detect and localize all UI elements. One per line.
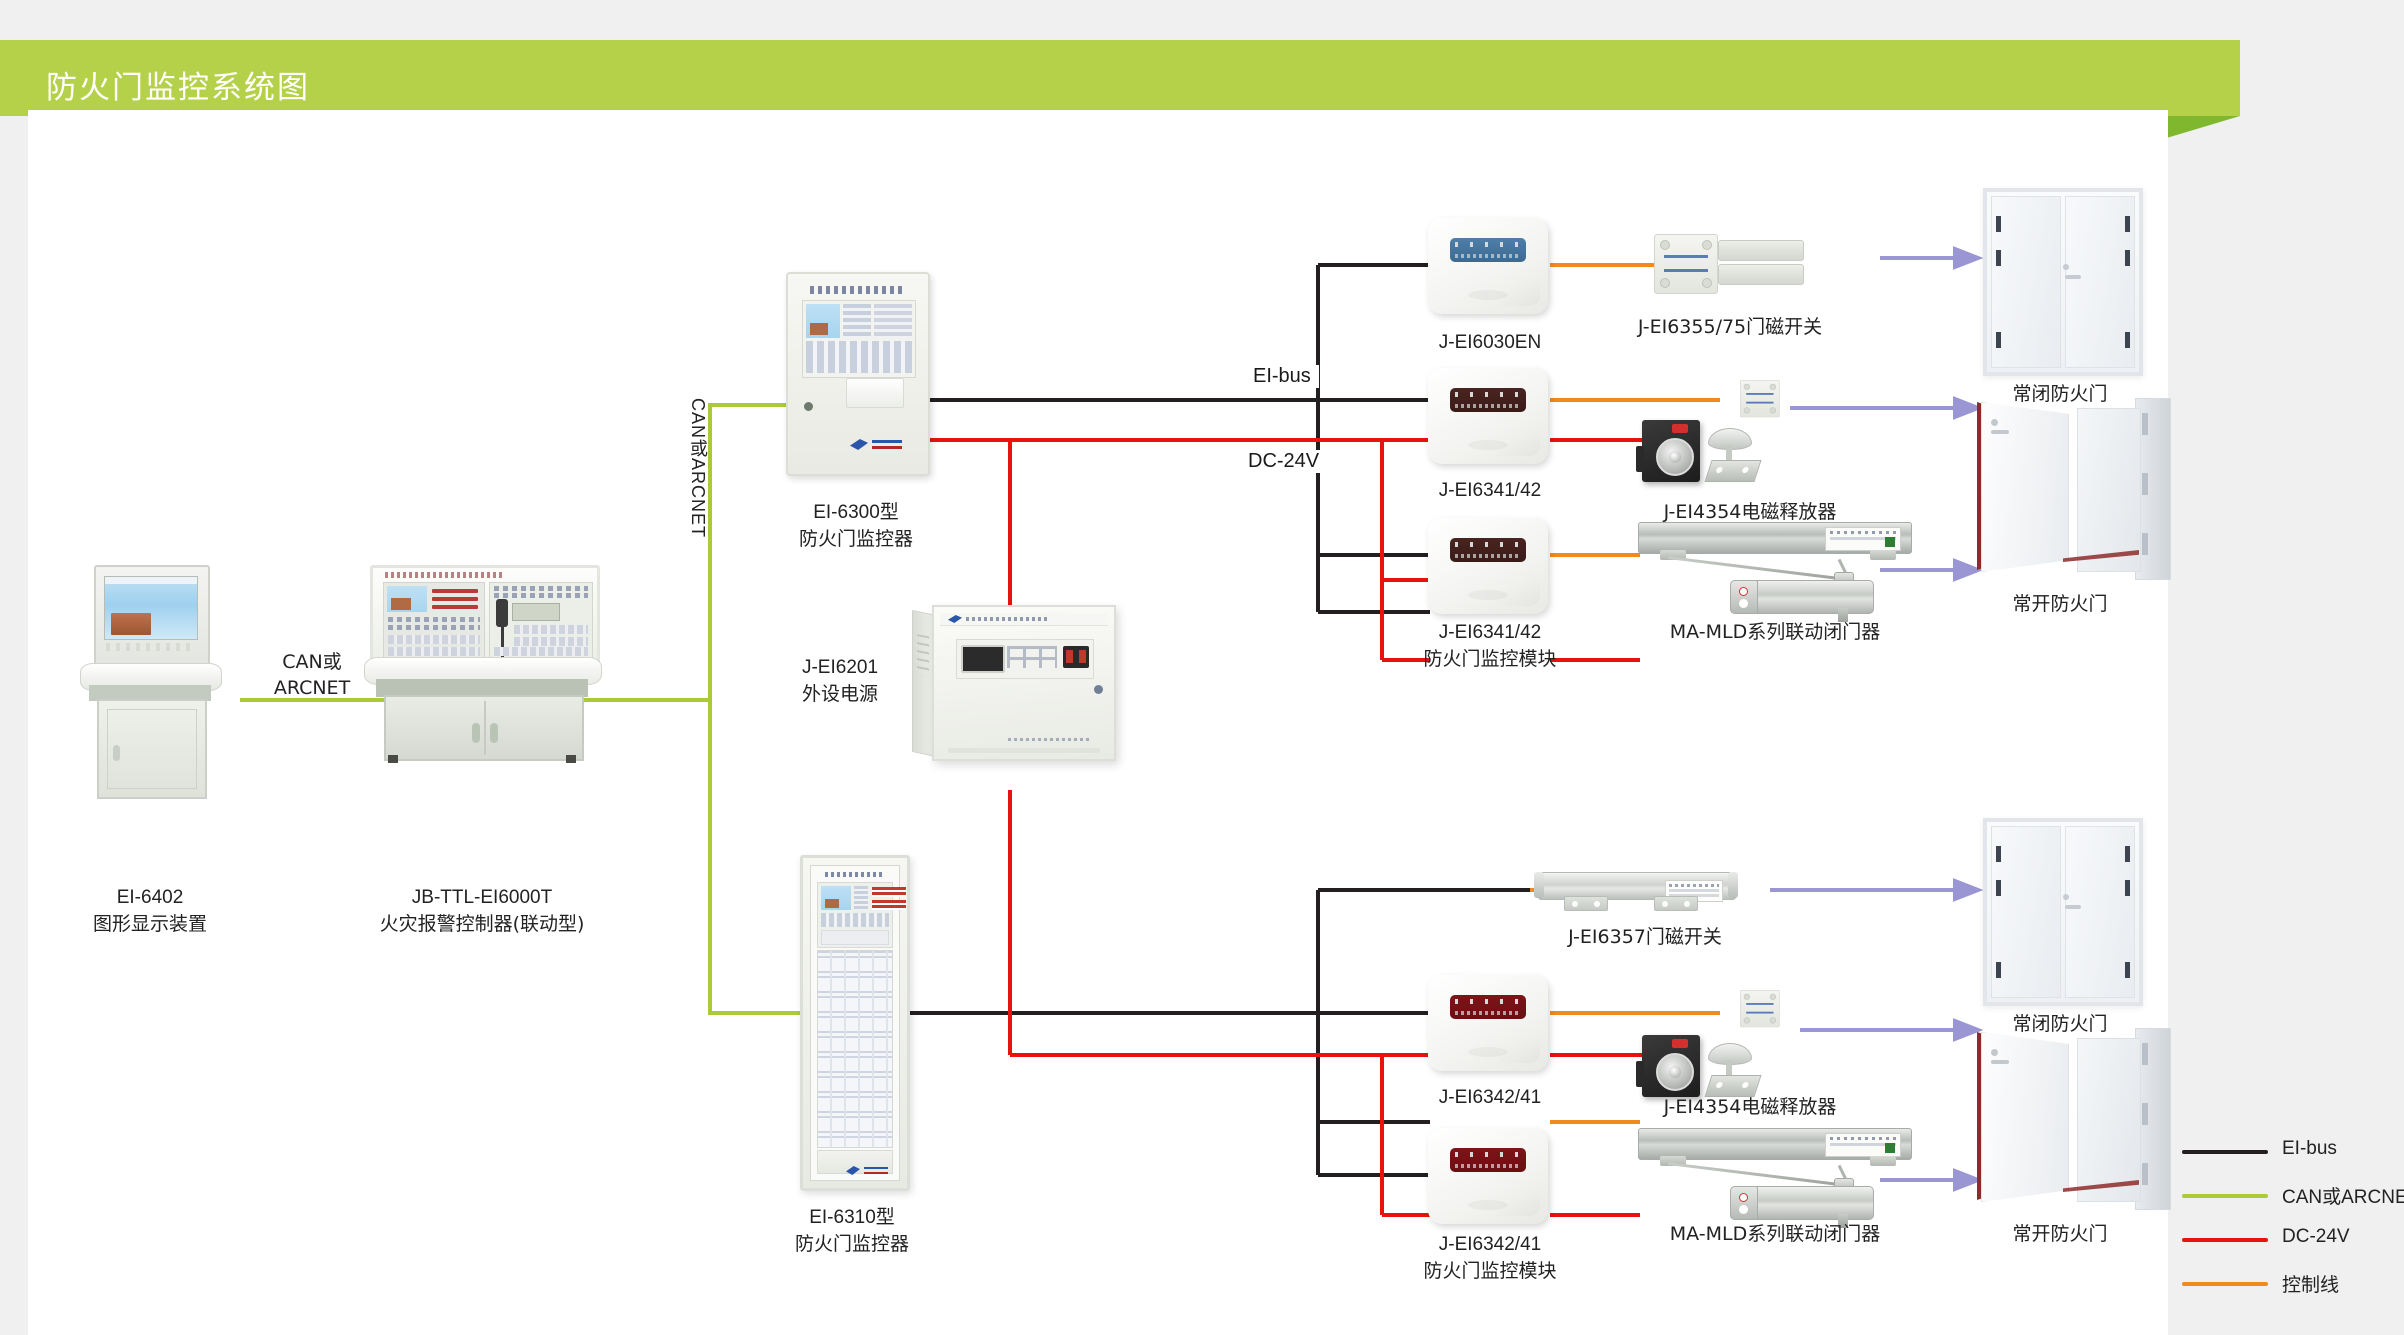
hinge-icon	[1996, 962, 2001, 978]
hinge-icon	[1996, 216, 2001, 232]
label-module-6342-41-b-name: 防火门监控模块	[1390, 1259, 1590, 1285]
hinge-icon	[2125, 880, 2130, 896]
module-label-plate	[1450, 1148, 1526, 1172]
legend-swatch-control	[2182, 1282, 2268, 1286]
label-closer-top: MA-MLD系列联动闭门器	[1630, 620, 1920, 646]
device-power-supply-j-ei6201[interactable]	[912, 605, 1112, 765]
ei6310-indicator-column	[854, 886, 868, 910]
device-door-closed-bottom	[1983, 818, 2143, 1006]
closer-arm	[1668, 1162, 1843, 1186]
module-label-text	[1455, 404, 1521, 408]
wire-label-ei-bus: EI-bus	[1245, 365, 1319, 388]
door-switch-label	[1746, 1012, 1773, 1014]
wire-label-dc24v: DC-24V	[1240, 450, 1327, 473]
label-ei6300-name: 防火门监控器	[766, 527, 946, 553]
door-switch-label	[1746, 402, 1773, 404]
label-ei6300-model: EI-6300型	[766, 500, 946, 526]
label-module-6341-42-b-model: J-EI6341/42	[1400, 620, 1580, 646]
console-left-section	[383, 582, 485, 660]
device-door-switch-plate-bottom[interactable]	[1740, 990, 1797, 1026]
device-door-open-top	[1975, 398, 2171, 578]
psu-display	[961, 645, 1005, 673]
psu-brand-icon	[948, 615, 962, 623]
closer-arm	[1668, 556, 1843, 580]
closer-indicator-icon	[1885, 537, 1895, 547]
armature-base	[1704, 460, 1761, 482]
psu-title-bar	[940, 613, 1108, 626]
ei6300-indicator-grid	[843, 304, 871, 338]
armature-stem	[1726, 1060, 1732, 1076]
wire-label-can-arcnet-left: CAN或 ARCNET	[252, 650, 372, 701]
armature-base	[1704, 1075, 1761, 1097]
device-monitor-ei6310[interactable]	[800, 855, 910, 1191]
gdu-cabinet	[97, 699, 207, 799]
closer-bracket	[1870, 1156, 1896, 1166]
module-label-text	[1455, 1011, 1521, 1015]
console-cabinet	[384, 695, 584, 761]
door-leaf-fixed	[2077, 1038, 2141, 1202]
label-console-name: 火灾报警控制器(联动型)	[372, 912, 592, 938]
door-switch-label	[1664, 269, 1708, 272]
closer-tag-text	[1830, 531, 1896, 534]
legend-label: EI-bus	[2282, 1138, 2337, 1160]
hinge-icon	[2125, 250, 2130, 266]
module-label-text	[1455, 254, 1521, 258]
hinge-icon	[1996, 332, 2001, 348]
screw-icon	[1702, 240, 1712, 250]
hinge-icon	[2125, 216, 2130, 232]
gdu-button-row	[106, 643, 196, 651]
label-console-model: JB-TTL-EI6000T	[382, 885, 582, 911]
ei6310-module-columns	[818, 951, 892, 1147]
door-leaf-left	[1991, 196, 2061, 368]
door-handle-icon	[2065, 275, 2081, 279]
device-door-open-bottom	[1975, 1028, 2171, 1208]
header-banner	[0, 40, 2240, 116]
ei6310-module-bank	[817, 950, 893, 1148]
ei6300-zone-grid	[806, 341, 912, 373]
gdu-screen	[104, 576, 198, 640]
device-graphic-display-ei6402[interactable]	[80, 565, 220, 795]
ei6310-title-strip	[825, 872, 885, 877]
label-ei6310-model: EI-6310型	[762, 1205, 942, 1231]
legend-label: CAN或ARCNET	[2282, 1182, 2404, 1209]
ei6310-key-row	[821, 913, 889, 927]
gdu-monitor	[94, 565, 210, 669]
door-switch-bar	[1718, 264, 1804, 285]
console-foot	[566, 755, 576, 763]
closer-tag-text	[1830, 1137, 1896, 1140]
ei6310-wide-slot	[821, 930, 889, 945]
ei6300-screen	[806, 304, 840, 338]
legend-label: DC-24V	[2282, 1226, 2350, 1248]
console-alarm-bar	[432, 605, 478, 609]
label-door-open-bottom: 常开防火门	[1975, 1222, 2145, 1248]
console-key-row	[494, 647, 588, 656]
ei6310-alarm-strip	[872, 887, 906, 897]
legend-swatch-ei-bus	[2182, 1150, 2268, 1154]
door-leaf-open	[1981, 402, 2069, 572]
module-logo-watermark	[1468, 1047, 1508, 1057]
psu-front-panel	[932, 605, 1116, 761]
ei6310-faceplate	[817, 882, 893, 948]
label-door-switch-6355: J-EI6355/75门磁开关	[1610, 315, 1850, 341]
console-foot	[388, 755, 398, 763]
ei6300-printer-slot	[846, 378, 904, 408]
screw-icon	[1660, 278, 1670, 288]
screw-icon	[1770, 384, 1776, 390]
module-led-dots	[1455, 542, 1521, 547]
hinge-icon	[2125, 332, 2130, 348]
device-monitor-ei6300[interactable]	[786, 272, 930, 476]
label-module-6342-41-a: J-EI6342/41	[1400, 1085, 1580, 1111]
module-label-text	[1455, 1164, 1521, 1168]
device-door-switch-j-ei6357[interactable]	[1538, 868, 1734, 914]
releaser-magnet-icon	[1656, 1053, 1694, 1091]
ei6300-lock[interactable]	[804, 402, 813, 411]
legend-item: CAN或ARCNET	[2182, 1174, 2382, 1218]
closer-bracket	[1870, 550, 1896, 560]
label-module-6342-41-b-model: J-EI6342/41	[1400, 1232, 1580, 1258]
device-door-switch-j-ei6355-75[interactable]	[1654, 234, 1746, 292]
device-module-j-ei6341-42-b[interactable]	[1428, 518, 1548, 614]
module-label-text	[1455, 554, 1521, 558]
console-led-row	[388, 625, 480, 630]
screw-icon	[1770, 407, 1776, 413]
device-door-closed-top	[1983, 188, 2143, 376]
bar-switch-bracket	[1564, 896, 1608, 911]
hinge-icon	[1996, 880, 2001, 896]
device-module-j-ei6342-41-a[interactable]	[1428, 975, 1548, 1071]
legend-label: 控制线	[2282, 1270, 2339, 1297]
door-switch-plate	[1740, 380, 1780, 417]
module-logo-watermark	[1468, 590, 1508, 600]
door-handle-icon	[1991, 1060, 2009, 1064]
module-logo-watermark	[1468, 440, 1508, 450]
ei6300-brand-logo	[850, 438, 902, 452]
label-closer-bottom: MA-MLD系列联动闭门器	[1630, 1222, 1920, 1248]
screw-icon	[1660, 240, 1670, 250]
bar-switch-cap	[1534, 872, 1544, 898]
door-leaf-fixed	[2077, 408, 2141, 572]
releaser-button[interactable]	[1672, 1039, 1688, 1048]
closer-control-tag	[1825, 527, 1901, 551]
device-door-closer-ma-mld-top[interactable]	[1638, 522, 1910, 626]
door-handle-icon	[2065, 905, 2081, 909]
label-graphic-display-name: 图形显示装置	[60, 912, 240, 938]
closer-end-plate	[1730, 1186, 1758, 1220]
releaser-body	[1642, 420, 1700, 482]
psu-led-array	[1007, 646, 1057, 668]
module-label-plate	[1450, 388, 1526, 412]
screw-icon	[1744, 384, 1750, 390]
console-alarm-bar	[432, 589, 478, 593]
device-module-j-ei6341-42-a[interactable]	[1428, 368, 1548, 464]
console-key-row	[514, 625, 588, 634]
gdu-cabinet-handle	[113, 745, 120, 761]
ei6310-screen	[821, 886, 851, 910]
label-releaser-bottom: J-EI4354电磁释放器	[1620, 1095, 1880, 1121]
releaser-body	[1642, 1035, 1700, 1097]
device-door-switch-plate-top[interactable]	[1740, 380, 1797, 416]
door-switch-plate	[1654, 234, 1718, 294]
screw-icon	[1702, 278, 1712, 288]
hinge-icon	[2125, 846, 2130, 862]
screw-icon	[1744, 994, 1750, 1000]
psu-model-text	[966, 617, 1050, 621]
releaser-button[interactable]	[1672, 424, 1688, 433]
door-switch-bar-pair	[1718, 240, 1802, 286]
bar-switch-bracket	[1654, 896, 1698, 911]
releaser-bracket	[1636, 446, 1644, 472]
screw-icon	[1744, 407, 1750, 413]
legend-swatch-can-arcnet	[2182, 1194, 2268, 1198]
screw-icon	[1770, 1017, 1776, 1023]
label-graphic-display-model: EI-6402	[60, 885, 240, 911]
label-door-switch-6357: J-EI6357门磁开关	[1530, 925, 1760, 951]
bar-switch-cap	[1728, 872, 1738, 898]
module-label-plate	[1450, 995, 1526, 1019]
psu-lock[interactable]	[1094, 685, 1103, 694]
console-cabinet-handle	[490, 723, 498, 743]
console-led-row	[494, 586, 588, 591]
psu-power-switches[interactable]	[1063, 646, 1089, 668]
label-door-open-top: 常开防火门	[1975, 592, 2145, 618]
console-mini-screen	[387, 586, 427, 612]
closer-control-tag	[1825, 1133, 1901, 1157]
module-label-plate	[1450, 538, 1526, 562]
legend-item: 控制线	[2182, 1262, 2382, 1306]
door-switch-plate	[1740, 990, 1780, 1027]
closer-end-plate	[1730, 580, 1758, 614]
releaser-armature	[1706, 1043, 1762, 1097]
door-switch-bar	[1718, 240, 1804, 261]
psu-control-panel	[956, 639, 1094, 679]
diagram-page: 防火门监控系统图	[0, 0, 2404, 1335]
door-switch-label	[1746, 1003, 1773, 1005]
console-key-row	[388, 647, 480, 656]
console-key-row	[514, 637, 588, 646]
console-key-row	[388, 635, 480, 644]
label-module-6341-42-b-name: 防火门监控模块	[1390, 647, 1590, 673]
hinge-icon	[1996, 846, 2001, 862]
module-led-dots	[1455, 392, 1521, 397]
psu-manufacturer-text	[1008, 738, 1092, 741]
label-ei6310-name: 防火门监控器	[762, 1232, 942, 1258]
hinge-icon	[2125, 962, 2130, 978]
releaser-magnet-icon	[1656, 438, 1694, 476]
ei6310-alarm-strip	[872, 900, 906, 910]
armature-stem	[1726, 445, 1732, 461]
legend-item: DC-24V	[2182, 1218, 2382, 1262]
label-psu-name: 外设电源	[750, 682, 930, 708]
door-switch-label	[1746, 393, 1773, 395]
console-alarm-bar	[432, 597, 478, 601]
device-releaser-j-ei4354-top[interactable]	[1642, 410, 1772, 490]
device-module-j-ei6030en[interactable]	[1428, 218, 1548, 314]
ei6310-inner-frame	[810, 865, 900, 1181]
ei6300-title-strip	[810, 286, 906, 294]
label-module-6341-42-a: J-EI6341/42	[1400, 478, 1580, 504]
legend: EI-bus CAN或ARCNET DC-24V 控制线	[2182, 1130, 2382, 1306]
screw-icon	[1770, 994, 1776, 1000]
psu-base-strip	[948, 748, 1100, 753]
door-leaf-left	[1991, 826, 2061, 998]
door-leaf-open	[1981, 1032, 2069, 1202]
console-right-section	[489, 582, 593, 660]
console-panel-title	[385, 572, 505, 578]
wire-label-can-arcnet-vertical: CAN或ARCNET	[685, 398, 711, 538]
module-led-dots	[1455, 242, 1521, 247]
console-led-row	[494, 593, 588, 598]
screw-icon	[1744, 1017, 1750, 1023]
ei6300-faceplate	[802, 300, 916, 378]
page-title: 防火门监控系统图	[46, 62, 310, 107]
module-label-plate	[1450, 238, 1526, 262]
closer-indicator-icon	[1885, 1143, 1895, 1153]
label-module-6030en: J-EI6030EN	[1400, 330, 1580, 356]
ei6300-indicator-grid	[874, 304, 912, 338]
device-releaser-j-ei4354-bottom[interactable]	[1642, 1025, 1772, 1105]
device-fire-alarm-console-jb-ttl-ei6000t[interactable]	[364, 565, 600, 765]
legend-item: EI-bus	[2182, 1130, 2382, 1174]
console-cabinet-divider	[484, 701, 486, 755]
module-logo-watermark	[1468, 290, 1508, 300]
bar-switch-tag-text	[1669, 884, 1719, 887]
device-module-j-ei6342-41-b[interactable]	[1428, 1128, 1548, 1224]
console-panel	[370, 565, 600, 667]
device-door-closer-ma-mld-bottom[interactable]	[1638, 1128, 1910, 1232]
ei6310-base-panel	[817, 1150, 893, 1174]
releaser-armature	[1706, 428, 1762, 482]
door-switch-label	[1664, 255, 1708, 258]
door-handle-icon	[1991, 430, 2009, 434]
console-microphone[interactable]	[496, 599, 508, 627]
legend-swatch-dc24v	[2182, 1238, 2268, 1242]
hinge-icon	[1996, 250, 2001, 266]
module-led-dots	[1455, 1152, 1521, 1157]
gdu-cabinet-door	[107, 709, 197, 789]
label-psu-model: J-EI6201	[750, 655, 930, 681]
module-logo-watermark	[1468, 1200, 1508, 1210]
ei6310-brand-logo	[846, 1165, 888, 1177]
module-led-dots	[1455, 999, 1521, 1004]
console-lcd	[512, 603, 560, 621]
console-led-row	[388, 617, 480, 622]
releaser-bracket	[1636, 1061, 1644, 1087]
console-cabinet-handle	[472, 723, 480, 743]
